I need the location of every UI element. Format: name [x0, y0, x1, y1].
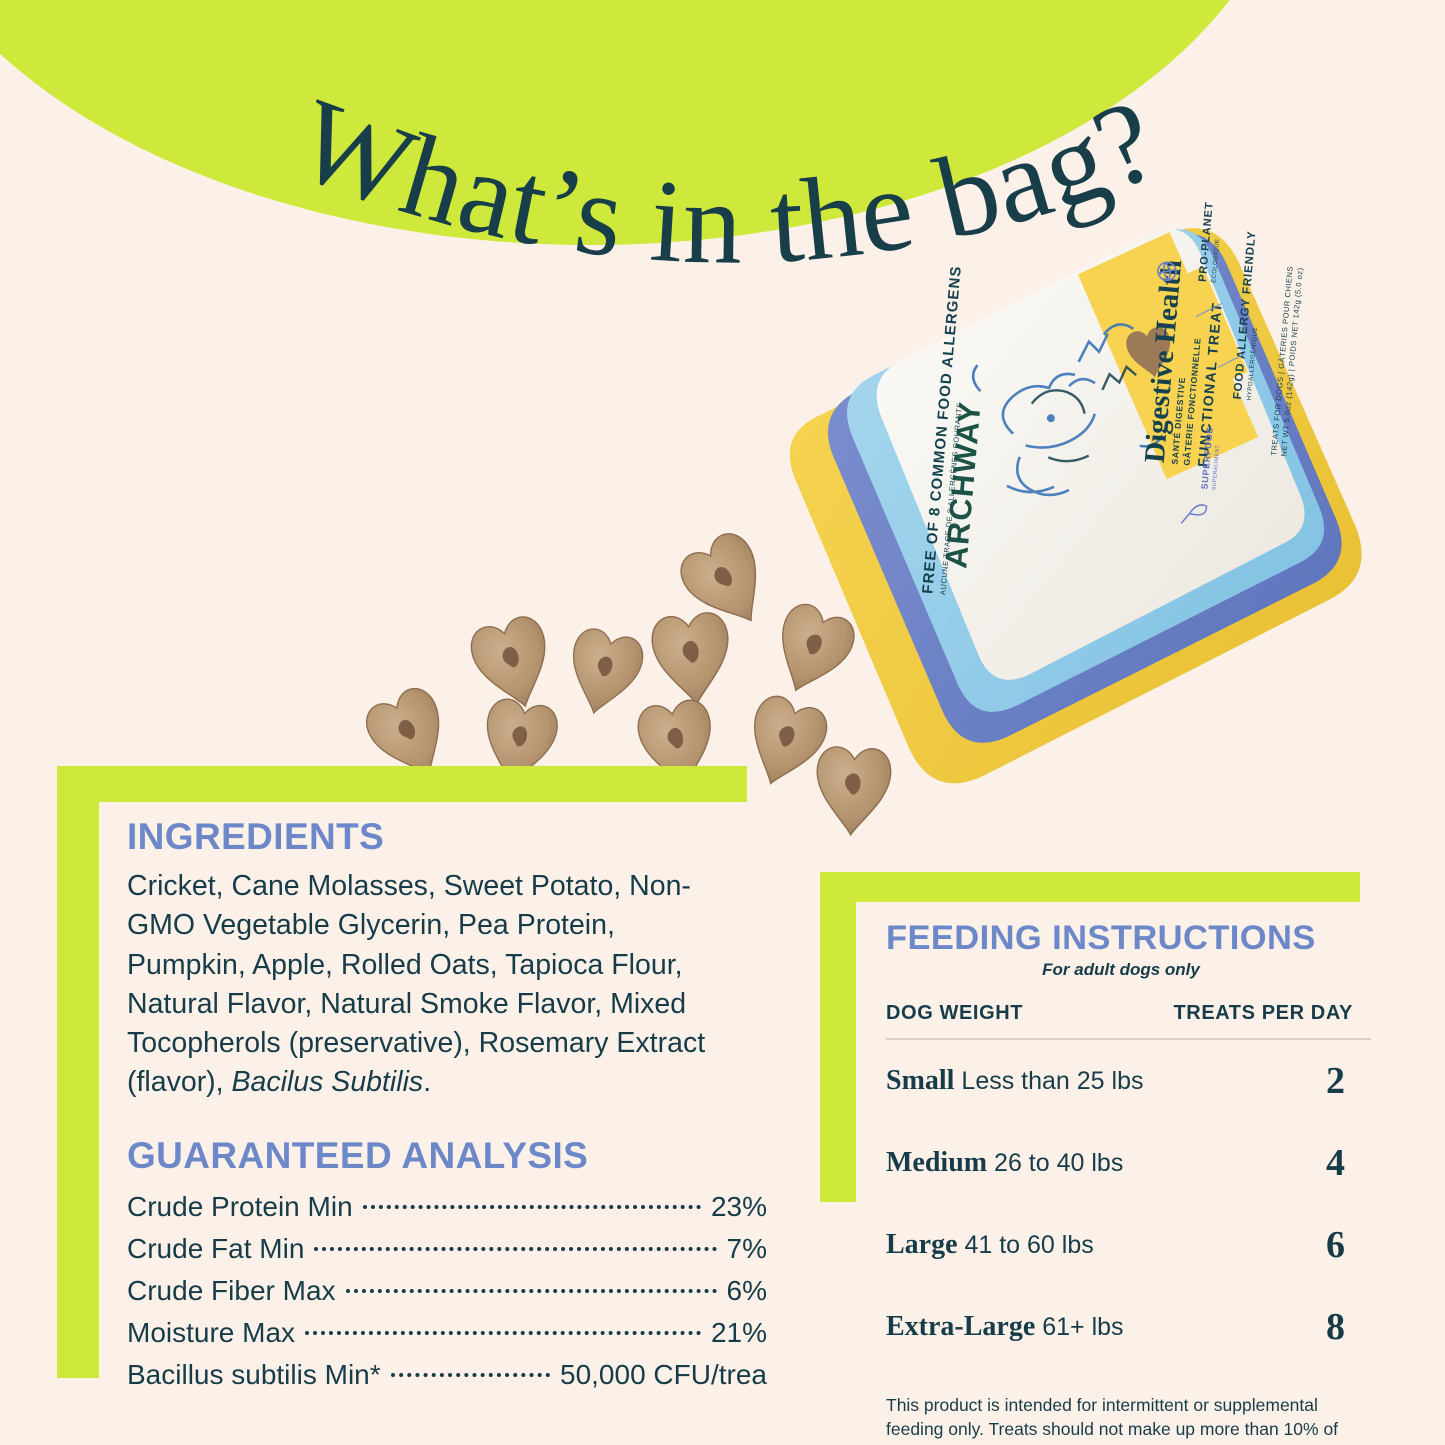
guaranteed-analysis-label: Bacillus subtilis Min*	[127, 1361, 381, 1389]
treat-item	[673, 526, 782, 640]
feeding-col-weight: DOG WEIGHT	[886, 1002, 1160, 1039]
feeding-table: DOG WEIGHT TREATS PER DAY Small Less tha…	[886, 1002, 1371, 1368]
feeding-subtitle: For adult dogs only	[886, 960, 1386, 980]
feeding-table-row: Large 41 to 60 lbs6	[886, 1204, 1371, 1286]
ingredients-body-tail: .	[423, 1066, 431, 1098]
leader-dots	[346, 1289, 717, 1293]
product-bag-svg: ARCHWAY FREE OF 8 COMMON FOOD ALLERGENS …	[795, 250, 1315, 795]
product-bag-image: ARCHWAY FREE OF 8 COMMON FOOD ALLERGENS …	[795, 250, 1315, 795]
ingredients-body-lead: Cricket, Cane Molasses, Sweet Potato, No…	[127, 870, 705, 1099]
feeding-weight-range: Less than 25 lbs	[954, 1067, 1143, 1095]
leader-dots	[305, 1331, 701, 1335]
guaranteed-analysis-value: 23%	[711, 1193, 767, 1221]
feeding-weight-cell: Medium 26 to 40 lbs	[886, 1122, 1160, 1204]
feeding-header-row: DOG WEIGHT TREATS PER DAY	[886, 1002, 1371, 1039]
ingredients-body: Cricket, Cane Molasses, Sweet Potato, No…	[127, 867, 739, 1103]
feeding-instructions-panel: FEEDING INSTRUCTIONS For adult dogs only…	[820, 872, 1380, 1372]
feeding-size-label: Large	[886, 1229, 958, 1260]
guaranteed-analysis-value: 7%	[727, 1235, 767, 1263]
feeding-col-treats: TREATS PER DAY	[1160, 1002, 1371, 1039]
feeding-title: FEEDING INSTRUCTIONS	[886, 920, 1386, 956]
guaranteed-analysis-title: GUARANTEED ANALYSIS	[127, 1137, 767, 1176]
leader-dots	[314, 1247, 716, 1251]
treat-item	[560, 625, 647, 721]
infographic-canvas: What’s in the bag?	[0, 0, 1445, 1445]
guaranteed-analysis-row: Bacillus subtilis Min*50,000 CFU/trea	[127, 1354, 767, 1396]
feeding-weight-cell: Small Less than 25 lbs	[886, 1039, 1160, 1122]
feeding-weight-cell: Extra-Large 61+ lbs	[886, 1286, 1160, 1368]
ingredients-body-scientific: Bacilus Subtilis	[232, 1066, 424, 1098]
feeding-weight-range: 61+ lbs	[1035, 1313, 1123, 1341]
guaranteed-analysis-row: Crude Fat Min7%	[127, 1228, 767, 1270]
guaranteed-analysis-value: 21%	[711, 1319, 767, 1347]
guaranteed-analysis-row: Crude Fiber Max6%	[127, 1270, 767, 1312]
treat-item	[650, 611, 735, 708]
feeding-table-head: DOG WEIGHT TREATS PER DAY	[886, 1002, 1371, 1039]
guaranteed-analysis-label: Crude Fat Min	[127, 1235, 304, 1263]
feeding-treats-count: 8	[1160, 1286, 1371, 1368]
ingredients-panel: INGREDIENTS Cricket, Cane Molasses, Swee…	[57, 766, 757, 1386]
feeding-weight-range: 41 to 60 lbs	[958, 1231, 1094, 1259]
feeding-weight-cell: Large 41 to 60 lbs	[886, 1204, 1160, 1286]
feeding-size-label: Medium	[886, 1147, 987, 1178]
ingredients-title: INGREDIENTS	[127, 818, 767, 857]
guaranteed-analysis-label: Crude Protein Min	[127, 1193, 353, 1221]
feeding-table-body: Small Less than 25 lbs2Medium 26 to 40 l…	[886, 1039, 1371, 1368]
feeding-treats-count: 6	[1160, 1204, 1371, 1286]
panel-frame-left	[820, 872, 856, 1202]
guaranteed-analysis-row: Moisture Max21%	[127, 1312, 767, 1354]
feeding-table-row: Small Less than 25 lbs2	[886, 1039, 1371, 1122]
feeding-weight-range: 26 to 40 lbs	[987, 1149, 1123, 1177]
guaranteed-analysis-label: Crude Fiber Max	[127, 1277, 336, 1305]
feeding-treats-count: 4	[1160, 1122, 1371, 1204]
ingredients-content: INGREDIENTS Cricket, Cane Molasses, Swee…	[127, 818, 767, 1396]
guaranteed-analysis-list: Crude Protein Min23%Crude Fat Min7%Crude…	[127, 1186, 767, 1396]
guaranteed-analysis-row: Crude Protein Min23%	[127, 1186, 767, 1228]
guaranteed-analysis-value: 6%	[727, 1277, 767, 1305]
feeding-size-label: Small	[886, 1065, 954, 1096]
feeding-content: FEEDING INSTRUCTIONS For adult dogs only…	[886, 920, 1386, 1445]
hero-green-arc	[0, 0, 1295, 245]
panel-frame-top	[820, 872, 1360, 902]
feeding-table-row: Extra-Large 61+ lbs8	[886, 1286, 1371, 1368]
panel-frame-left	[57, 766, 99, 1378]
feeding-note: This product is intended for intermitten…	[886, 1394, 1356, 1445]
guaranteed-analysis-value: 50,000 CFU/trea	[560, 1361, 767, 1389]
leader-dots	[363, 1205, 701, 1209]
feeding-size-label: Extra-Large	[886, 1311, 1035, 1342]
treat-item	[466, 612, 561, 716]
feeding-table-row: Medium 26 to 40 lbs4	[886, 1122, 1371, 1204]
panel-frame-top	[57, 766, 747, 802]
feeding-treats-count: 2	[1160, 1039, 1371, 1122]
guaranteed-analysis-label: Moisture Max	[127, 1319, 295, 1347]
leader-dots	[391, 1373, 550, 1377]
